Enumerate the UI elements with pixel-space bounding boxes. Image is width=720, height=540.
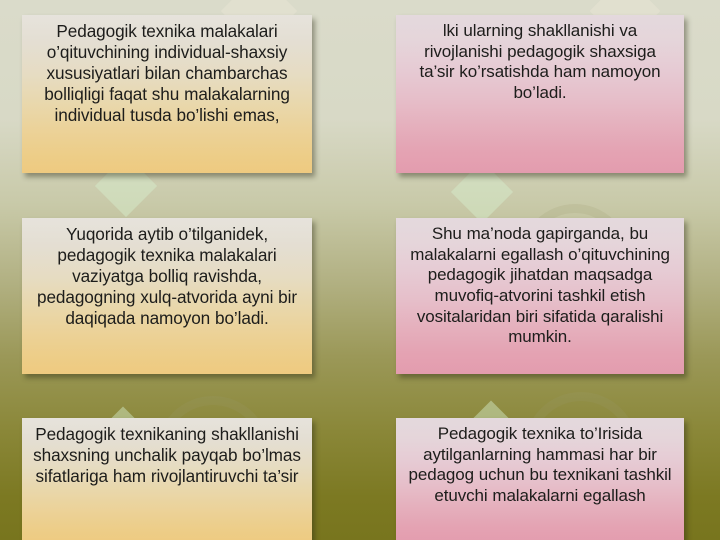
text-card-6-body: Pedagogik texnika to’Irisida aytilganlar… bbox=[406, 424, 674, 507]
text-card-5[interactable]: Pedagogik texnikaning shakllanishi shaxs… bbox=[22, 418, 312, 540]
presentation-slide: Pedagogik texnika malakalari o’qituvchin… bbox=[0, 0, 720, 540]
text-card-4-body: Shu ma’noda gapirganda, bu malakalarni e… bbox=[406, 224, 674, 348]
text-card-4[interactable]: Shu ma’noda gapirganda, bu malakalarni e… bbox=[396, 218, 684, 374]
text-card-1[interactable]: Pedagogik texnika malakalari o’qituvchin… bbox=[22, 15, 312, 173]
text-card-3[interactable]: Yuqorida aytib o’tilganidek, pedagogik t… bbox=[22, 218, 312, 374]
text-card-3-body: Yuqorida aytib o’tilganidek, pedagogik t… bbox=[32, 224, 302, 328]
text-card-6[interactable]: Pedagogik texnika to’Irisida aytilganlar… bbox=[396, 418, 684, 540]
text-card-2-body: lki ularning shakllanishi va rivojlanish… bbox=[406, 21, 674, 104]
text-card-2[interactable]: lki ularning shakllanishi va rivojlanish… bbox=[396, 15, 684, 173]
text-card-5-body: Pedagogik texnikaning shakllanishi shaxs… bbox=[32, 424, 302, 487]
text-card-1-body: Pedagogik texnika malakalari o’qituvchin… bbox=[32, 21, 302, 125]
